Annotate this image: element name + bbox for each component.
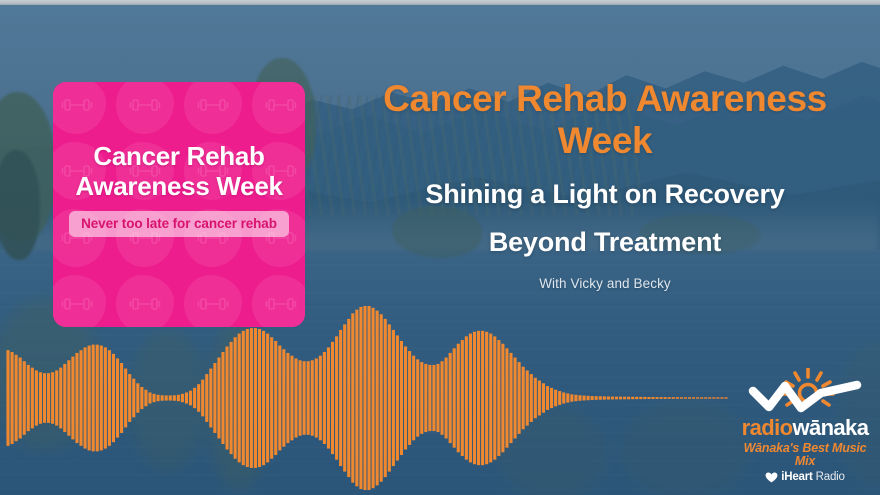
waveform-bar	[323, 352, 326, 444]
waveform-bar	[47, 373, 50, 423]
top-edge-strip	[0, 0, 880, 5]
waveform-bar	[607, 396, 610, 399]
waveform-bar	[343, 324, 346, 471]
waveform-bar	[578, 395, 581, 401]
waveform-bar	[367, 306, 370, 490]
waveform-bar	[473, 332, 476, 464]
slide-canvas: Cancer Rehab Awareness Week Never too la…	[0, 0, 880, 495]
waveform-bar	[720, 397, 723, 398]
waveform-bar	[660, 397, 663, 399]
waveform-bar	[100, 346, 103, 451]
waveform-bar	[497, 340, 500, 456]
waveform-bar	[684, 397, 687, 398]
waveform-bar	[213, 363, 216, 433]
heart-icon	[765, 472, 778, 483]
waveform-bar	[67, 360, 70, 435]
waveform-bar	[209, 369, 212, 428]
waveform-bar	[664, 397, 667, 399]
waveform-bar	[246, 329, 249, 467]
waveform-bar	[201, 380, 204, 417]
waveform-bar	[412, 356, 415, 441]
logo-word-wanaka: wānaka	[792, 415, 868, 440]
waveform-bar	[376, 311, 379, 486]
waveform-bar	[286, 353, 289, 443]
waveform-bar	[461, 340, 464, 456]
waveform-bar	[562, 392, 565, 403]
waveform-bar	[59, 368, 62, 429]
waveform-bar	[635, 397, 638, 399]
waveform-bar	[177, 395, 180, 401]
waveform-bar	[242, 331, 245, 465]
waveform-bar	[457, 344, 460, 453]
waveform-bar	[546, 386, 549, 410]
waveform-bar	[587, 396, 590, 400]
waveform-bar	[388, 324, 391, 471]
waveform-bar	[173, 395, 176, 401]
dumbbell-icon	[53, 271, 111, 327]
waveform-bar	[238, 334, 241, 463]
waveform-bar	[526, 370, 529, 425]
waveform-bar	[627, 397, 630, 400]
waveform-bar	[274, 341, 277, 455]
waveform-bar	[582, 396, 585, 401]
waveform-bar	[132, 379, 135, 418]
waveform-bar	[88, 346, 91, 451]
waveform-bar	[315, 358, 318, 437]
waveform-bar	[221, 352, 224, 444]
waveform-bar	[258, 329, 261, 467]
waveform-bar	[96, 345, 99, 452]
waveform-bar	[19, 358, 22, 439]
waveform-bar	[668, 397, 671, 399]
waveform-bar	[193, 388, 196, 408]
waveform-bar	[534, 378, 537, 418]
waveform-bar	[254, 328, 257, 468]
waveform-bar	[120, 363, 123, 433]
waveform-bar	[112, 354, 115, 442]
waveform-bar	[39, 372, 42, 424]
waveform-bar	[550, 388, 553, 408]
waveform-bar	[509, 353, 512, 443]
waveform-bar	[558, 391, 561, 405]
waveform-bar	[420, 362, 423, 434]
waveform-bar	[688, 397, 691, 398]
waveform-bar	[400, 341, 403, 455]
sunburst-icon	[735, 368, 875, 416]
artwork-title-line2: Awareness Week	[53, 172, 305, 202]
waveform-bar	[651, 397, 654, 399]
waveform-bar	[299, 360, 302, 435]
waveform-bar	[441, 361, 444, 435]
waveform-bar	[307, 361, 310, 435]
waveform-bar	[278, 346, 281, 451]
dumbbell-icon	[179, 271, 247, 327]
waveform-bar	[384, 319, 387, 477]
waveform-bar	[116, 358, 119, 437]
waveform-bar	[55, 370, 58, 425]
page-title-line1: Cancer Rehab Awareness	[330, 78, 880, 120]
waveform-bar	[522, 367, 525, 430]
waveform-bar	[262, 331, 265, 465]
waveform-bar	[124, 369, 127, 428]
waveform-bar	[331, 342, 334, 454]
waveform-bar	[615, 397, 618, 400]
logo-mark	[735, 368, 875, 416]
waveform-bar	[35, 370, 38, 425]
logo-word-radio: radio	[742, 415, 793, 440]
waveform-bar	[108, 350, 111, 446]
waveform-bar	[599, 396, 602, 400]
waveform-bar	[294, 358, 297, 437]
waveform-bar	[566, 393, 569, 402]
waveform-bar	[351, 313, 354, 482]
waveform-bar	[603, 396, 606, 399]
waveform-bar	[185, 392, 188, 403]
waveform-bar	[270, 337, 273, 458]
waveform-bar	[514, 358, 517, 439]
dumbbell-icon	[247, 82, 305, 138]
artwork-badge: Never too late for cancer rehab	[69, 211, 289, 237]
dumbbell-icon	[247, 271, 305, 327]
waveform-bar	[436, 364, 439, 432]
waveform-bar	[428, 365, 431, 431]
waveform-bar	[501, 344, 504, 453]
waveform-bar	[181, 394, 184, 402]
waveform-bar	[75, 353, 78, 443]
waveform-bar	[161, 395, 164, 401]
logo-tagline: Wānaka's Best Music Mix	[735, 442, 875, 467]
waveform-bar	[347, 319, 350, 477]
waveform-bar	[144, 390, 147, 407]
waveform-bar	[31, 368, 34, 429]
waveform-bar	[469, 334, 472, 463]
waveform-bar	[380, 314, 383, 481]
waveform-bar	[11, 352, 14, 444]
waveform-bar	[712, 397, 715, 398]
waveform-bar	[165, 395, 168, 400]
waveform-bar	[704, 397, 707, 398]
waveform-bar	[290, 356, 293, 441]
waveform-bar	[700, 397, 703, 398]
waveform-bar	[724, 397, 727, 398]
waveform-bar	[477, 331, 480, 465]
waveform-bar	[611, 397, 614, 400]
waveform-bar	[453, 348, 456, 447]
waveform-bar	[570, 394, 573, 401]
iheartradio-lockup: iHeartRadio	[735, 472, 875, 484]
waveform-bar	[432, 365, 435, 431]
waveform-bar	[392, 330, 395, 466]
waveform-bar	[311, 360, 314, 435]
waveform-bar	[416, 359, 419, 436]
waveform-bar	[63, 364, 66, 432]
waveform-bar	[481, 331, 484, 465]
waveform-bar	[250, 328, 253, 468]
waveform-bar	[595, 396, 598, 400]
waveform-bar	[505, 348, 508, 447]
waveform-bar	[136, 383, 139, 412]
waveform-bar	[197, 384, 200, 412]
waveform-bar	[465, 336, 468, 459]
waveform-bar	[530, 374, 533, 422]
waveform-bar	[716, 397, 719, 398]
radio-text: Radio	[816, 472, 845, 484]
waveform-bar	[359, 307, 362, 489]
waveform-bar	[449, 353, 452, 443]
waveform-bar	[43, 373, 46, 423]
waveform-bar	[148, 392, 151, 403]
waveform-bar	[303, 361, 306, 435]
page-title-line2: Week	[330, 120, 880, 162]
page-subtitle-line1: Shining a Light on Recovery	[330, 178, 880, 210]
waveform-bar	[708, 397, 711, 398]
waveform-bar	[631, 397, 634, 399]
headline-block: Cancer Rehab Awareness Week Shining a Li…	[330, 78, 880, 291]
waveform-bar	[230, 342, 233, 454]
waveform-bar	[619, 397, 622, 400]
waveform-bar	[542, 383, 545, 412]
waveform-bar	[84, 347, 87, 448]
waveform-bar	[372, 308, 375, 488]
waveform-bar	[339, 330, 342, 466]
artwork-card: Cancer Rehab Awareness Week Never too la…	[53, 82, 305, 327]
waveform-bar	[104, 347, 107, 448]
dumbbell-icon	[111, 271, 179, 327]
waveform-bar	[424, 364, 427, 432]
waveform-bar	[396, 335, 399, 460]
waveform-bar	[408, 351, 411, 445]
waveform-bar	[234, 337, 237, 458]
waveform-bar	[493, 336, 496, 459]
waveform-bar	[335, 336, 338, 459]
waveform-bar	[6, 350, 9, 446]
waveform-bar	[404, 346, 407, 449]
waveform-bar	[692, 397, 695, 398]
waveform-bar	[639, 397, 642, 399]
waveform-bar	[696, 397, 699, 398]
hosts-credit: With Vicky and Becky	[330, 276, 880, 291]
waveform-bar	[319, 356, 322, 441]
waveform-bar	[554, 390, 557, 407]
waveform-bar	[643, 397, 646, 399]
waveform-bar	[574, 395, 577, 401]
waveform-bar	[489, 334, 492, 463]
waveform-bar	[327, 347, 330, 448]
waveform-bar	[15, 355, 18, 441]
waveform-bar	[655, 397, 658, 399]
waveform-bar	[282, 349, 285, 447]
waveform-bar	[266, 334, 269, 463]
waveform-bar	[128, 374, 131, 422]
waveform-bar	[92, 345, 95, 452]
waveform-bar	[152, 394, 155, 402]
waveform-bar	[51, 372, 54, 424]
waveform-bar	[485, 332, 488, 464]
waveform-bar	[591, 396, 594, 400]
logo-wordmark: radiowānaka	[735, 417, 875, 439]
artwork-text-block: Cancer Rehab Awareness Week Never too la…	[53, 142, 305, 237]
waveform-bar	[27, 365, 30, 431]
waveform-bar	[169, 395, 172, 400]
waveform-bar	[518, 362, 521, 434]
radio-wanaka-logo: radiowānaka Wānaka's Best Music Mix iHea…	[735, 368, 875, 480]
waveform-bar	[140, 387, 143, 409]
waveform-bar	[157, 395, 160, 401]
waveform-bar	[205, 374, 208, 422]
waveform-bar	[189, 391, 192, 406]
waveform-bar	[23, 361, 26, 435]
waveform-bar	[226, 346, 229, 449]
page-subtitle-line2: Beyond Treatment	[330, 226, 880, 258]
dumbbell-icon	[53, 82, 111, 138]
dumbbell-icon	[179, 82, 247, 138]
dumbbell-icon	[111, 82, 179, 138]
waveform-bar	[445, 358, 448, 439]
waveform-bar	[79, 350, 82, 446]
waveform-bar	[623, 397, 626, 400]
artwork-title-line1: Cancer Rehab	[53, 142, 305, 172]
waveform-bar	[672, 397, 675, 399]
waveform-bar	[355, 310, 358, 487]
waveform-bar	[676, 397, 679, 399]
waveform-bar	[71, 357, 74, 440]
waveform-bar	[680, 397, 683, 398]
waveform-bar	[217, 358, 220, 439]
waveform-bar	[647, 397, 650, 399]
waveform-bar	[363, 306, 366, 490]
waveform-bar	[538, 381, 541, 416]
iheart-text: iHeart	[781, 472, 812, 484]
